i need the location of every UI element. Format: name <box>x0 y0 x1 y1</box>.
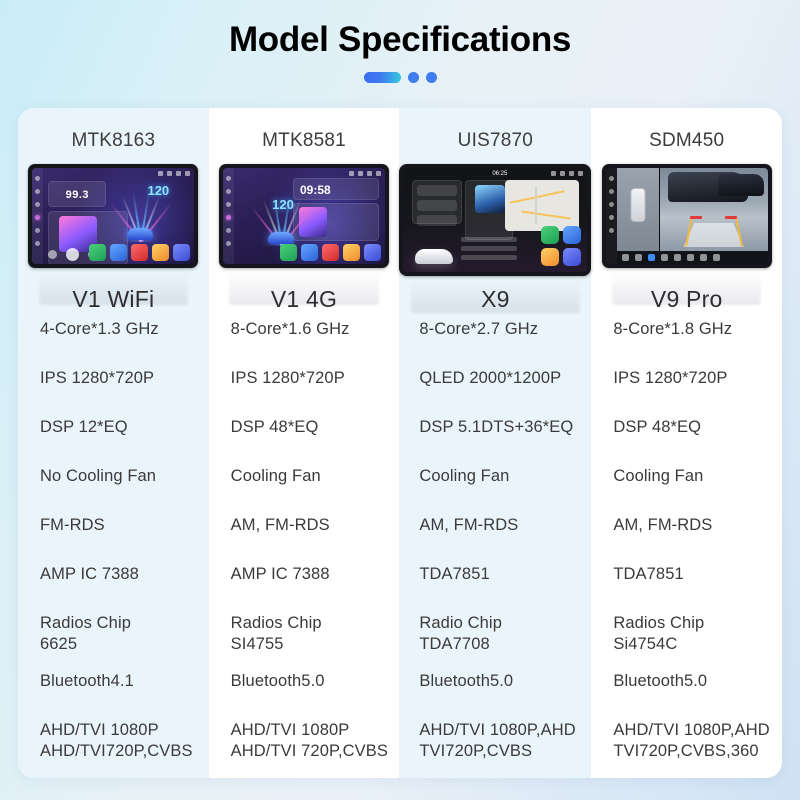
app-dock <box>541 226 581 266</box>
spec-amplifier: AMP IC 7388 <box>209 564 400 613</box>
chipset-name: MTK8581 <box>209 118 400 164</box>
spec-dsp: DSP 12*EQ <box>18 417 209 466</box>
car-graphic <box>415 249 453 264</box>
spec-cpu: 8-Core*2.7 GHz <box>399 319 591 368</box>
screen-statusbar <box>236 171 381 178</box>
spec-display: IPS 1280*720P <box>209 368 400 417</box>
spec-amplifier: TDA7851 <box>399 564 591 613</box>
map-widget <box>505 180 579 231</box>
spec-bluetooth: Bluetooth5.0 <box>399 671 591 720</box>
spec-column-mtk8581: MTK8581 120 09:58 <box>209 108 400 778</box>
distance-marker <box>725 216 737 219</box>
spec-camera-input: AHD/TVI 1080P AHD/TVI 720P,CVBS <box>209 720 400 778</box>
road-animation <box>90 186 190 242</box>
app-icon-carplay <box>280 244 297 261</box>
app-icon-carplay <box>89 244 106 261</box>
device-image-x9: 06:25 <box>399 164 591 284</box>
lane-marking <box>683 223 744 247</box>
clock-value: 06:25 <box>492 171 507 177</box>
settings-icon <box>635 254 642 261</box>
camera-icon <box>622 254 629 261</box>
device-image-v1-wifi: 99.3 120 <box>18 164 209 284</box>
spec-radio-band: AM, FM-RDS <box>209 515 400 564</box>
album-art <box>475 185 505 213</box>
camera-view-toolbar <box>617 251 768 264</box>
app-icon-settings <box>364 244 381 261</box>
spec-display: IPS 1280*720P <box>18 368 209 417</box>
spec-cooling: No Cooling Fan <box>18 466 209 515</box>
app-icon-maps <box>541 248 559 266</box>
detected-vehicle <box>718 174 764 196</box>
spec-amplifier: TDA7851 <box>591 564 782 613</box>
app-dock <box>280 243 381 262</box>
pager-dot-3[interactable] <box>426 72 437 83</box>
spec-radio-chip: Radios Chip 6625 <box>18 613 209 671</box>
spec-cooling: Cooling Fan <box>209 466 400 515</box>
spec-cooling: Cooling Fan <box>399 466 591 515</box>
screen-statusbar <box>45 171 190 178</box>
spec-amplifier: AMP IC 7388 <box>18 564 209 613</box>
spec-list: 8-Core*2.7 GHz QLED 2000*1200P DSP 5.1DT… <box>399 313 591 778</box>
car-graphic <box>630 188 645 222</box>
car-graphic <box>127 228 153 240</box>
view-front-icon <box>648 254 655 261</box>
carousel-pager[interactable] <box>0 72 800 83</box>
screen-sidebar-icons <box>32 168 43 264</box>
spec-camera-input: AHD/TVI 1080P AHD/TVI720P,CVBS <box>18 720 209 778</box>
chipset-name: SDM450 <box>591 118 782 164</box>
spec-display: QLED 2000*1200P <box>399 368 591 417</box>
spec-camera-input: AHD/TVI 1080P,AHD TVI720P,CVBS,360 <box>591 720 782 778</box>
app-icon-assistant <box>563 248 581 266</box>
view-left-icon <box>661 254 668 261</box>
app-icon-carplay <box>541 226 559 244</box>
pager-indicator-active[interactable] <box>364 72 401 83</box>
road-animation <box>237 192 325 246</box>
spec-radio-chip: Radios Chip SI4755 <box>209 613 400 671</box>
birdseye-camera-view <box>617 168 659 251</box>
spec-dsp: DSP 48*EQ <box>209 417 400 466</box>
spec-column-uis7870: UIS7870 06:25 <box>399 108 591 778</box>
spec-list: 8-Core*1.6 GHz IPS 1280*720P DSP 48*EQ C… <box>209 313 400 778</box>
spec-radio-chip: Radios Chip Si4754C <box>591 613 782 671</box>
quick-settings-panel <box>412 180 462 224</box>
pager-dot-2[interactable] <box>408 72 419 83</box>
spec-radio-chip: Radio Chip TDA7708 <box>399 613 591 671</box>
spec-dsp: DSP 48*EQ <box>591 417 782 466</box>
spec-list: 8-Core*1.8 GHz IPS 1280*720P DSP 48*EQ C… <box>591 313 782 778</box>
view-3d-icon <box>713 254 720 261</box>
device-image-v1-4g: 120 09:58 <box>209 164 400 284</box>
spec-display: IPS 1280*720P <box>591 368 782 417</box>
screen-sidebar-icons <box>223 168 234 264</box>
spec-dsp: DSP 5.1DTS+36*EQ <box>399 417 591 466</box>
spec-cooling: Cooling Fan <box>591 466 782 515</box>
screen-sidebar-icons <box>606 168 617 264</box>
spec-bluetooth: Bluetooth5.0 <box>209 671 400 720</box>
spec-camera-input: AHD/TVI 1080P,AHD TVI720P,CVBS <box>399 720 591 778</box>
view-right-icon <box>674 254 681 261</box>
device-image-v9-pro <box>591 164 782 284</box>
spec-bluetooth: Bluetooth4.1 <box>18 671 209 720</box>
screen-statusbar: 06:25 <box>416 171 583 178</box>
page-title: Model Specifications <box>0 0 800 60</box>
spec-bluetooth: Bluetooth5.0 <box>591 671 782 720</box>
spec-radio-band: FM-RDS <box>18 515 209 564</box>
app-icon-maps <box>152 244 169 261</box>
spec-list: 4-Core*1.3 GHz IPS 1280*720P DSP 12*EQ N… <box>18 313 209 778</box>
view-rear-icon <box>687 254 694 261</box>
spec-cpu: 8-Core*1.8 GHz <box>591 319 782 368</box>
device-screen: 120 09:58 <box>223 168 385 264</box>
device-screen <box>606 168 768 264</box>
spec-column-sdm450: SDM450 <box>591 108 782 778</box>
spec-cpu: 4-Core*1.3 GHz <box>18 319 209 368</box>
spec-cpu: 8-Core*1.6 GHz <box>209 319 400 368</box>
view-split-icon <box>700 254 707 261</box>
app-icon-auto <box>301 244 318 261</box>
spec-radio-band: AM, FM-RDS <box>399 515 591 564</box>
chipset-name: UIS7870 <box>399 118 591 164</box>
app-icon-settings <box>173 244 190 261</box>
app-icon-auto <box>110 244 127 261</box>
app-icon-music <box>322 244 339 261</box>
chipset-name: MTK8163 <box>18 118 209 164</box>
spec-radio-band: AM, FM-RDS <box>591 515 782 564</box>
app-dock <box>89 243 190 262</box>
app-icon-auto <box>563 226 581 244</box>
app-icon-maps <box>343 244 360 261</box>
device-screen: 99.3 120 <box>32 168 194 264</box>
vehicle-stats-panel <box>461 237 517 264</box>
rear-camera-view <box>660 168 768 251</box>
spec-column-mtk8163: MTK8163 99.3 120 <box>18 108 209 778</box>
app-icon-music <box>131 244 148 261</box>
device-screen: 06:25 <box>403 168 587 272</box>
distance-marker <box>690 216 702 219</box>
specifications-card: MTK8163 99.3 120 <box>18 108 782 778</box>
